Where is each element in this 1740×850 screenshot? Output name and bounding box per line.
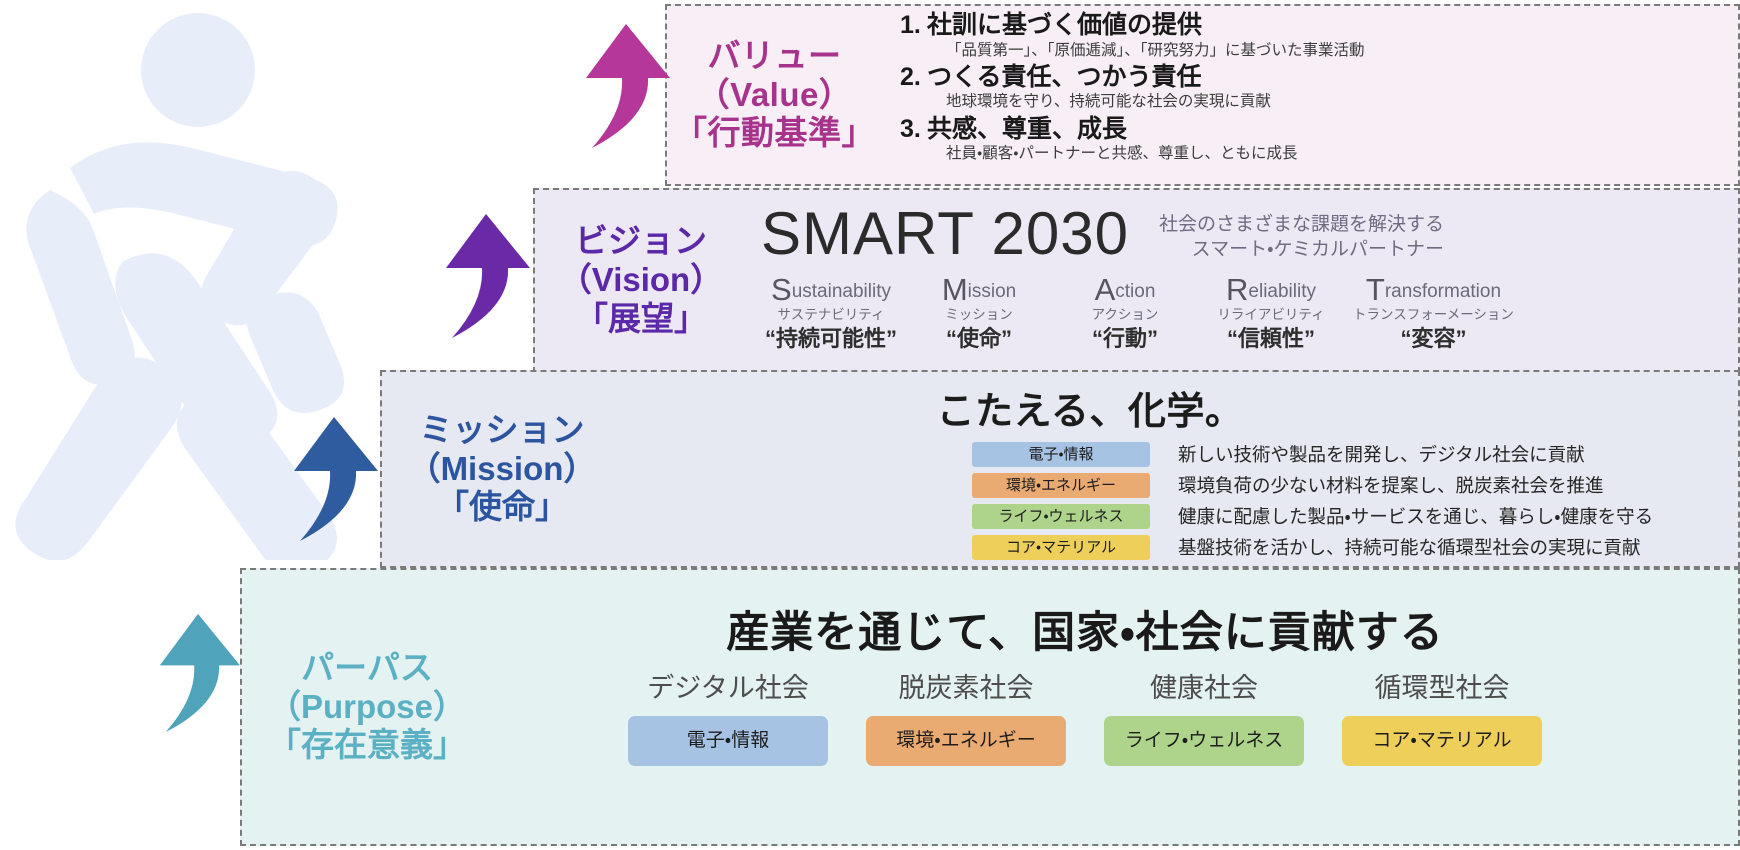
smart-acronym-jp: “行動” (1061, 325, 1189, 353)
smart-acronym-jp: “信頼性” (1207, 325, 1335, 353)
purpose-column: デジタル社会 電子・情報 (628, 674, 828, 766)
value-item-number: 2. (900, 62, 927, 93)
mission-row-text: 新しい技術や製品を開発し、デジタル社会に貢献 (1178, 441, 1585, 467)
curved-up-arrow-icon-mission (286, 415, 382, 545)
value-item-heading: 2.つくる責任、つかう責任 (900, 62, 1738, 93)
value-item-title: 共感、尊重、成長 (927, 115, 1127, 143)
purpose-column-heading: 循環型社会 (1342, 674, 1542, 704)
value-item-title: つくる責任、つかう責任 (927, 63, 1202, 91)
tier-purpose-label: パーパス （Purpose） 「存在意義」 (242, 649, 492, 766)
value-item-heading: 1.社訓に基づく価値の提供 (900, 10, 1738, 41)
tier-vision-body: SMART 2030 社会のさまざまな課題を解決する スマート・ケミカルパートナ… (747, 190, 1738, 371)
tier-mission-body: こたえる、化学。 電子・情報 新しい技術や製品を開発し、デジタル社会に貢献 環境… (622, 372, 1738, 566)
purpose-column: 健康社会 ライフ・ウェルネス (1104, 674, 1304, 766)
mission-segment-chip: 電子・情報 (972, 442, 1150, 467)
smart-acronym-word: Mission (915, 274, 1043, 305)
curved-up-arrow-icon-purpose (152, 612, 244, 736)
smart-acronym-jp: “使命” (915, 325, 1043, 353)
purpose-segment-chip: 電子・情報 (628, 716, 828, 766)
tier-value: バリュー （Value） 「行動基準」 1.社訓に基づく価値の提供 「品質第一」… (665, 4, 1740, 186)
value-item-number: 1. (900, 10, 927, 41)
mission-segment-chip: コア・マテリアル (972, 535, 1150, 560)
value-item-subtext: 社員・顧客・パートナーと共感、尊重し、ともに成長 (900, 144, 1738, 163)
tier-purpose: パーパス （Purpose） 「存在意義」 産業を通じて、国家・社会に貢献する … (240, 568, 1740, 846)
mission-segment-chip: 環境・エネルギー (972, 473, 1150, 498)
tier-value-label: バリュー （Value） 「行動基準」 (667, 37, 882, 154)
vision-headline-row: SMART 2030 社会のさまざまな課題を解決する スマート・ケミカルパートナ… (753, 190, 1738, 264)
smart-acronym-kana: アクション (1061, 305, 1189, 325)
smart-acronym-word: Transformation (1353, 274, 1514, 305)
purpose-column-heading: 脱炭素社会 (866, 674, 1066, 704)
smart-acronym-word: Sustainability (765, 274, 897, 305)
smart-acronym-word: Action (1061, 274, 1189, 305)
tier-vision-label: ビジョン （Vision） 「展望」 (535, 222, 747, 339)
value-item: 1.社訓に基づく価値の提供 「品質第一」、「原価逓減」、「研究努力」に基づいた事… (900, 10, 1738, 60)
value-item-heading: 3.共感、尊重、成長 (900, 114, 1738, 145)
purpose-title: 産業を通じて、国家・社会に貢献する (492, 598, 1738, 660)
smart-acronym-item: Transformation トランスフォーメーション “変容” (1353, 274, 1514, 353)
value-item-subtext: 「品質第一」、「原価逓減」、「研究努力」に基づいた事業活動 (900, 41, 1738, 60)
value-item-number: 3. (900, 114, 927, 145)
smart-acronym-jp: “変容” (1353, 325, 1514, 353)
value-item: 2.つくる責任、つかう責任 地球環境を守り、持続可能な社会の実現に貢献 (900, 62, 1738, 112)
mission-row-text: 環境負荷の少ない材料を提案し、脱炭素社会を推進 (1178, 472, 1604, 498)
smart-acronym-item: Reliability リライアビリティ “信頼性” (1207, 274, 1335, 353)
value-item: 3.共感、尊重、成長 社員・顧客・パートナーと共感、尊重し、ともに成長 (900, 114, 1738, 164)
purpose-column: 脱炭素社会 環境・エネルギー (866, 674, 1066, 766)
mission-title: こたえる、化学。 (622, 380, 1738, 435)
mission-row: 電子・情報 新しい技術や製品を開発し、デジタル社会に貢献 (622, 441, 1738, 467)
value-item-title: 社訓に基づく価値の提供 (927, 11, 1202, 39)
value-item-list: 1.社訓に基づく価値の提供 「品質第一」、「原価逓減」、「研究努力」に基づいた事… (882, 6, 1738, 164)
mission-row: ライフ・ウェルネス 健康に配慮した製品・サービスを通じ、暮らし・健康を守る (622, 503, 1738, 529)
tier-purpose-body: 産業を通じて、国家・社会に貢献する デジタル社会 電子・情報 脱炭素社会 環境・… (492, 570, 1738, 844)
vision-pyramid-diagram: バリュー （Value） 「行動基準」 1.社訓に基づく価値の提供 「品質第一」… (0, 0, 1740, 850)
mission-row: 環境・エネルギー 環境負荷の少ない材料を提案し、脱炭素社会を推進 (622, 472, 1738, 498)
smart-acronym-item: Sustainability サステナビリティ “持続可能性” (765, 274, 897, 353)
smart-acronym-word: Reliability (1207, 274, 1335, 305)
purpose-column-heading: 健康社会 (1104, 674, 1304, 704)
smart-acronym-item: Action アクション “行動” (1061, 274, 1189, 353)
mission-row-text: 健康に配慮した製品・サービスを通じ、暮らし・健康を守る (1178, 503, 1653, 529)
smart-acronym-row: Sustainability サステナビリティ “持続可能性” Mission … (753, 274, 1738, 353)
purpose-segment-chip: ライフ・ウェルネス (1104, 716, 1304, 766)
smart-acronym-kana: トランスフォーメーション (1353, 305, 1514, 325)
purpose-segment-chip: コア・マテリアル (1342, 716, 1542, 766)
curved-up-arrow-icon-value (578, 22, 674, 152)
tier-mission-label: ミッション （Mission） 「使命」 (382, 411, 622, 528)
tier-vision: ビジョン （Vision） 「展望」 SMART 2030 社会のさまざまな課題… (533, 188, 1740, 373)
mission-row: コア・マテリアル 基盤技術を活かし、持続可能な循環型社会の実現に貢献 (622, 534, 1738, 560)
tier-value-body: 1.社訓に基づく価値の提供 「品質第一」、「原価逓減」、「研究努力」に基づいた事… (882, 6, 1738, 184)
mission-row-text: 基盤技術を活かし、持続可能な循環型社会の実現に貢献 (1178, 534, 1641, 560)
mission-segment-chip: ライフ・ウェルネス (972, 504, 1150, 529)
smart-acronym-kana: リライアビリティ (1207, 305, 1335, 325)
purpose-column-heading: デジタル社会 (628, 674, 828, 704)
curved-up-arrow-icon-vision (438, 212, 534, 342)
smart-acronym-kana: サステナビリティ (765, 305, 897, 325)
purpose-column: 循環型社会 コア・マテリアル (1342, 674, 1542, 766)
purpose-column-row: デジタル社会 電子・情報 脱炭素社会 環境・エネルギー 健康社会 ライフ・ウェル… (492, 674, 1738, 766)
vision-tagline: 社会のさまざまな課題を解決する スマート・ケミカルパートナー (1159, 212, 1444, 262)
smart-acronym-kana: ミッション (915, 305, 1043, 325)
purpose-segment-chip: 環境・エネルギー (866, 716, 1066, 766)
smart-acronym-jp: “持続可能性” (765, 325, 897, 353)
tier-mission: ミッション （Mission） 「使命」 こたえる、化学。 電子・情報 新しい技… (380, 370, 1740, 568)
smart-acronym-item: Mission ミッション “使命” (915, 274, 1043, 353)
vision-title: SMART 2030 (753, 204, 1129, 264)
value-item-subtext: 地球環境を守り、持続可能な社会の実現に貢献 (900, 92, 1738, 111)
